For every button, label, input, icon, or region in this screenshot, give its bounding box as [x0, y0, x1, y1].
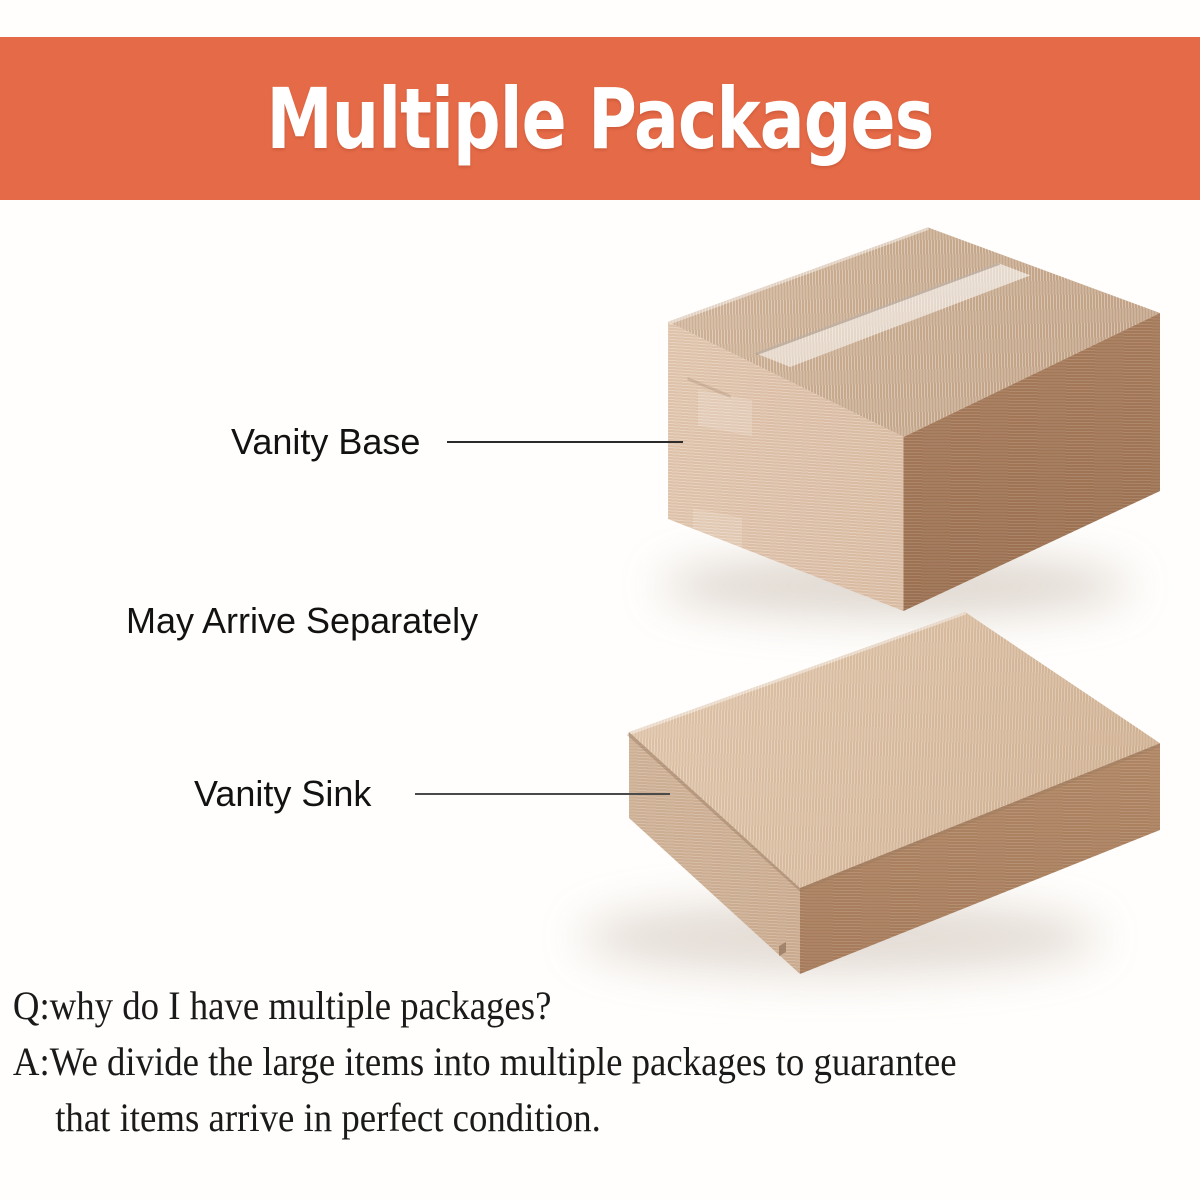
leader-line-vanity-base [447, 441, 683, 443]
callout-label-vanity-sink: Vanity Sink [194, 776, 371, 812]
product-infographic: Multiple Packages Vanity Base May Arrive… [0, 0, 1200, 1200]
faq-question: Q:why do I have multiple packages? [0, 978, 1104, 1034]
package-upper-box [620, 225, 1160, 625]
leader-line-vanity-sink [415, 793, 670, 795]
package-lower-box [560, 600, 1160, 1000]
faq-answer-line-2: that items arrive in perfect condition. [0, 1090, 1104, 1146]
callout-label-may-arrive-separately: May Arrive Separately [126, 603, 478, 639]
faq-answer-line-1: A:We divide the large items into multipl… [0, 1034, 1104, 1090]
page-title: Multiple Packages [266, 77, 933, 161]
callout-label-vanity-base: Vanity Base [231, 424, 420, 460]
header-banner: Multiple Packages [0, 37, 1200, 200]
faq-block: Q:why do I have multiple packages? A:We … [0, 978, 1200, 1146]
